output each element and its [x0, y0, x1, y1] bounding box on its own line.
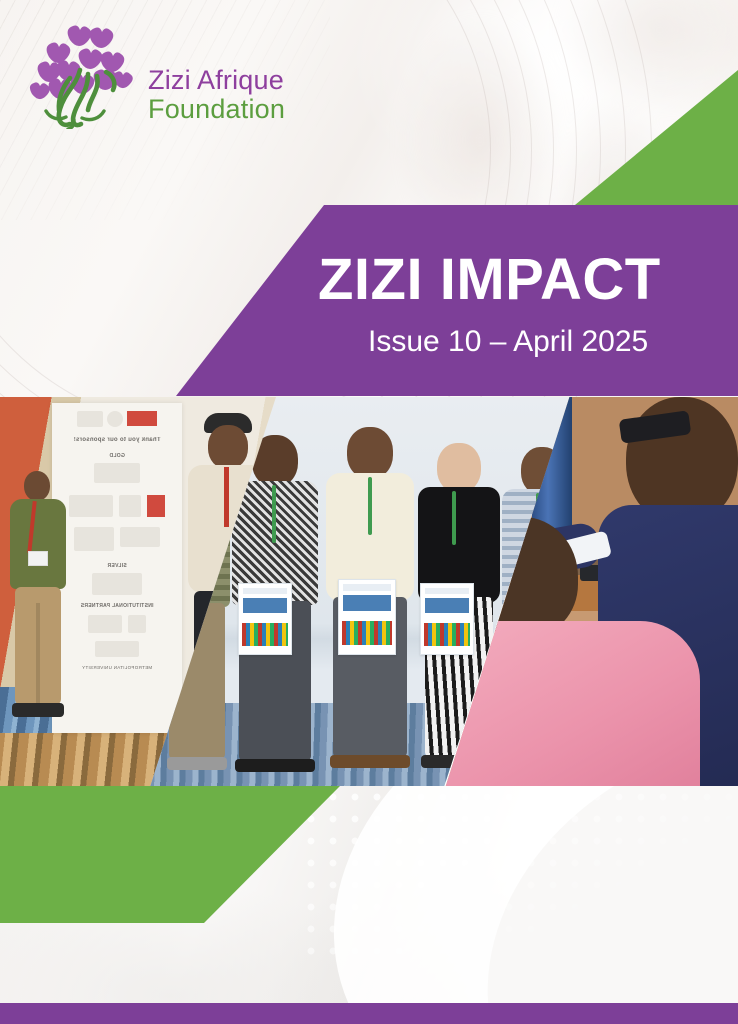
zizi-tree-logo-icon	[18, 14, 138, 129]
cover-photo-strip: Thank you to our sponsors! GOLD SILVER I…	[0, 397, 738, 787]
logo-wordmark: Zizi Afrique Foundation	[148, 67, 285, 123]
photo1-sponsor-rollup: Thank you to our sponsors! GOLD SILVER I…	[52, 403, 182, 733]
organisation-logo: Zizi Afrique Foundation	[18, 14, 298, 124]
issue-subtitle: Issue 10 – April 2025	[368, 327, 648, 357]
page-title: ZIZI IMPACT	[318, 251, 661, 309]
dot-pattern-watermark	[300, 786, 738, 964]
photo2-report-copy-2	[338, 579, 396, 655]
cover-page: Zizi Afrique Foundation ZIZI IMPACT Issu…	[0, 0, 738, 1024]
photo2-report-copy-3	[420, 583, 474, 655]
photo1-tier-partners: INSTITUTIONAL PARTNERS	[52, 603, 182, 609]
photo2-report-copy-1	[238, 583, 292, 655]
purple-footer-bar	[0, 1003, 738, 1024]
logo-name-line-1: Zizi Afrique	[148, 67, 285, 94]
photo1-tier-gold: GOLD	[52, 453, 182, 459]
photo1-headline: Thank you to our sponsors!	[52, 437, 182, 443]
photo1-partner-university: METROPOLITAN UNIVERSITY	[52, 665, 182, 670]
bottom-background	[0, 786, 738, 1024]
photo1-person-left	[6, 471, 70, 736]
photo1-tier-silver: SILVER	[52, 563, 182, 569]
photo2-person-3	[326, 427, 414, 787]
logo-name-line-2: Foundation	[148, 96, 285, 123]
